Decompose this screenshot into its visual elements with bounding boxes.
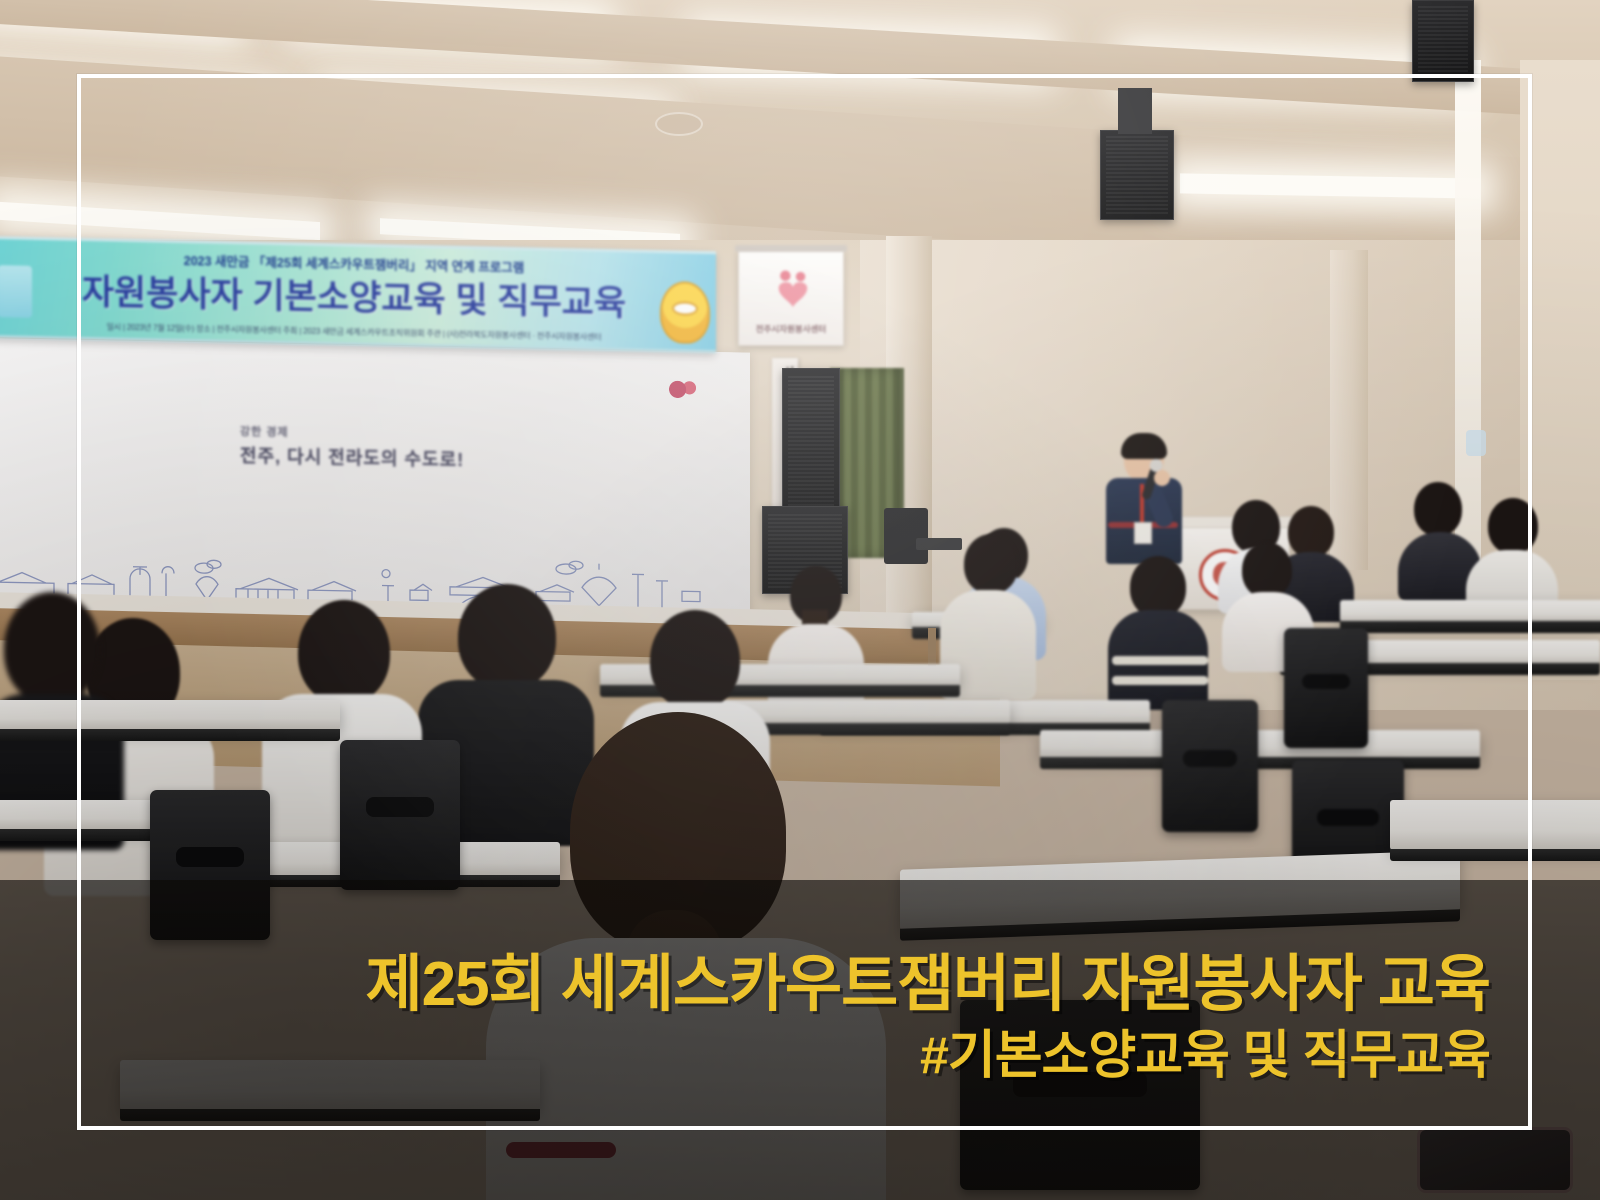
attendee-head [650,610,740,710]
ceiling-light [0,202,320,240]
projector-screen: 강한 경제 전주, 다시 전라도의 수도로! [0,338,750,633]
photo-card: 강한 경제 전주, 다시 전라도의 수도로! [0,0,1600,1200]
equipment-box [884,508,928,564]
shirt-stripe [1112,676,1208,685]
screen-slide-text: 강한 경제 전주, 다시 전라도의 수도로! [240,423,464,472]
presenter-hair [1121,433,1167,459]
table [1390,800,1600,850]
wall-speaker [1100,130,1174,220]
wall-sign [1466,430,1486,456]
attendee-head [1414,482,1462,536]
attendee-head [1242,542,1292,598]
speaker-mount [1118,88,1152,134]
ceiling [0,0,1600,250]
slide-headline: 전주, 다시 전라도의 수도로! [240,442,464,472]
attendee-head [1488,498,1538,554]
attendee-head [1130,556,1186,618]
shirt-stripe [1112,656,1208,665]
slide-eyebrow: 강한 경제 [240,423,464,443]
heart-people-logo-icon [773,269,811,309]
event-banner: 2023 새만금 「제25회 세계스카우트잼버리」 지역 연계 프로그램 자원봉… [0,236,716,353]
caption-block: 제25회 세계스카우트잼버리 자원봉사자 교육 #기본소양교육 및 직무교육 [366,954,1490,1082]
wall-speaker [1412,0,1474,82]
rollup-banner: 전주시자원봉사센터 [738,250,844,346]
attendee-head [4,592,100,704]
chair [1162,700,1258,832]
jeonju-logo-icon [656,373,710,410]
presenter-id-badge [1134,522,1152,544]
attendee-head [298,600,390,704]
chair [1284,628,1368,748]
rollup-top-bar [735,245,847,252]
presenter-hand [1154,470,1170,486]
presenter [1098,436,1190,562]
table [1340,600,1600,622]
jamboree-mascot-icon [660,281,710,344]
table [1040,730,1480,758]
rollup-label: 전주시자원봉사센터 [739,323,843,335]
chair [340,740,460,890]
attendee [1108,556,1208,706]
attendee-head [458,584,556,690]
ceiling-vent-icon [655,112,703,136]
attendee-head [964,534,1018,594]
table [0,700,340,730]
caption-hashtag: #기본소양교육 및 직무교육 [366,1030,1490,1082]
caption-title: 제25회 세계스카우트잼버리 자원봉사자 교육 [366,954,1490,1016]
